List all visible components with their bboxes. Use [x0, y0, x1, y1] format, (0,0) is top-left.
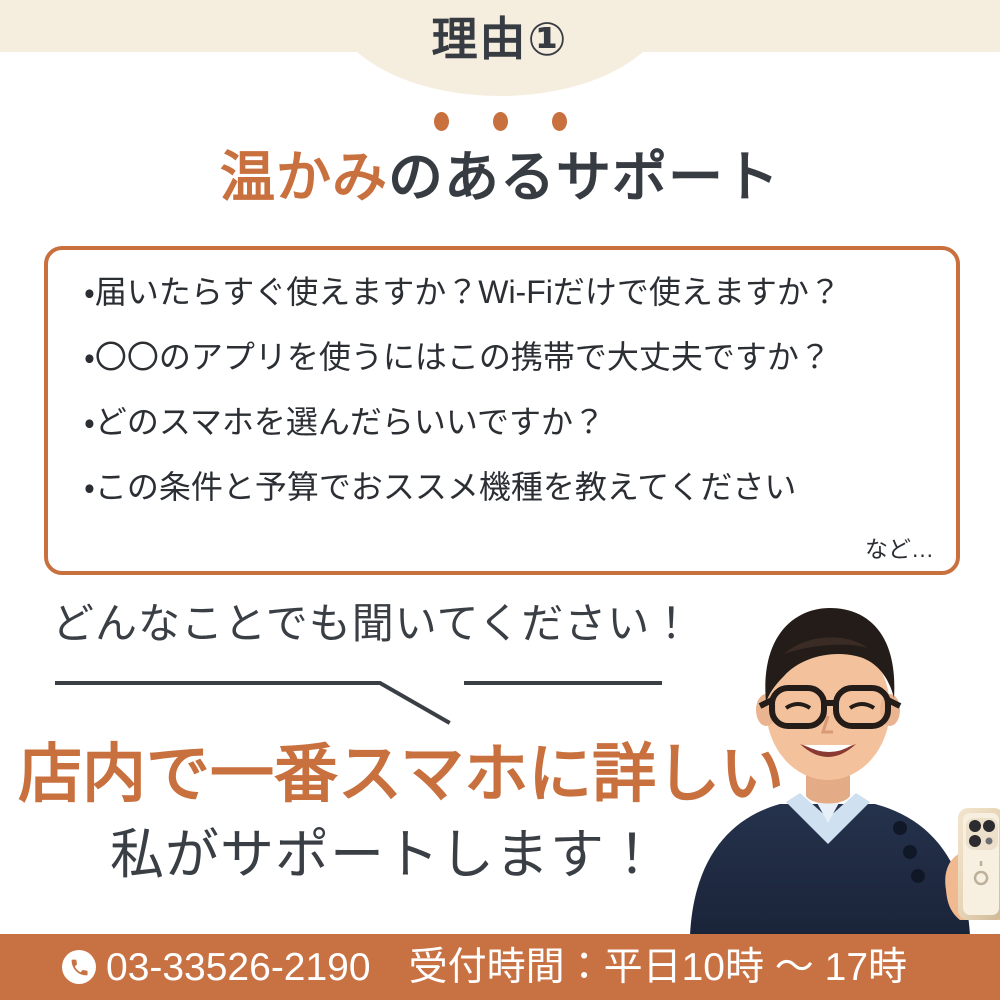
subtitle: 温かみのあるサポート: [0, 145, 1000, 210]
question-box-footnote: など…: [865, 538, 934, 561]
emphasis-dot-icon: [493, 112, 508, 131]
list-item: ・〇〇のアプリを使うにはこの携帯で大丈夫ですか？: [84, 341, 936, 373]
page-title: 理由①: [0, 16, 1000, 62]
emphasis-dot-icon: [552, 112, 567, 131]
list-item: ・この条件と予算でおススメ機種を教えてください: [84, 471, 936, 503]
emphasis-dots: [0, 112, 1000, 131]
emphasis-dot-icon: [434, 112, 449, 131]
phone-icon: [62, 950, 96, 984]
subtitle-rest: のあるサポート: [388, 146, 780, 208]
contact-footer: 03-33526-2190 受付時間：平日10時 〜 17時: [0, 934, 1000, 1000]
list-item: ・どのスマホを選んだらいいですか？: [84, 406, 936, 438]
business-hours: 受付時間：平日10時 〜 17時: [409, 948, 907, 987]
question-list: ・届いたらすぐ使えますか？Wi-Fiだけで使えますか？ ・〇〇のアプリを使うには…: [84, 276, 936, 503]
list-item: ・届いたらすぐ使えますか？Wi-Fiだけで使えますか？: [84, 276, 936, 308]
question-box: ・届いたらすぐ使えますか？Wi-Fiだけで使えますか？ ・〇〇のアプリを使うには…: [44, 246, 960, 575]
phone-number[interactable]: 03-33526-2190: [106, 948, 371, 987]
poster-root: 理由① 温かみのあるサポート ・届いたらすぐ使えますか？Wi-Fiだけで使えます…: [0, 0, 1000, 1000]
headline-primary: 店内で一番スマホに詳しい: [18, 742, 784, 806]
subtitle-highlight: 温かみ: [220, 146, 388, 208]
headline-secondary: 私がサポートします！: [110, 828, 660, 882]
speech-prompt-text: どんなことでも聞いてください！: [52, 603, 693, 645]
